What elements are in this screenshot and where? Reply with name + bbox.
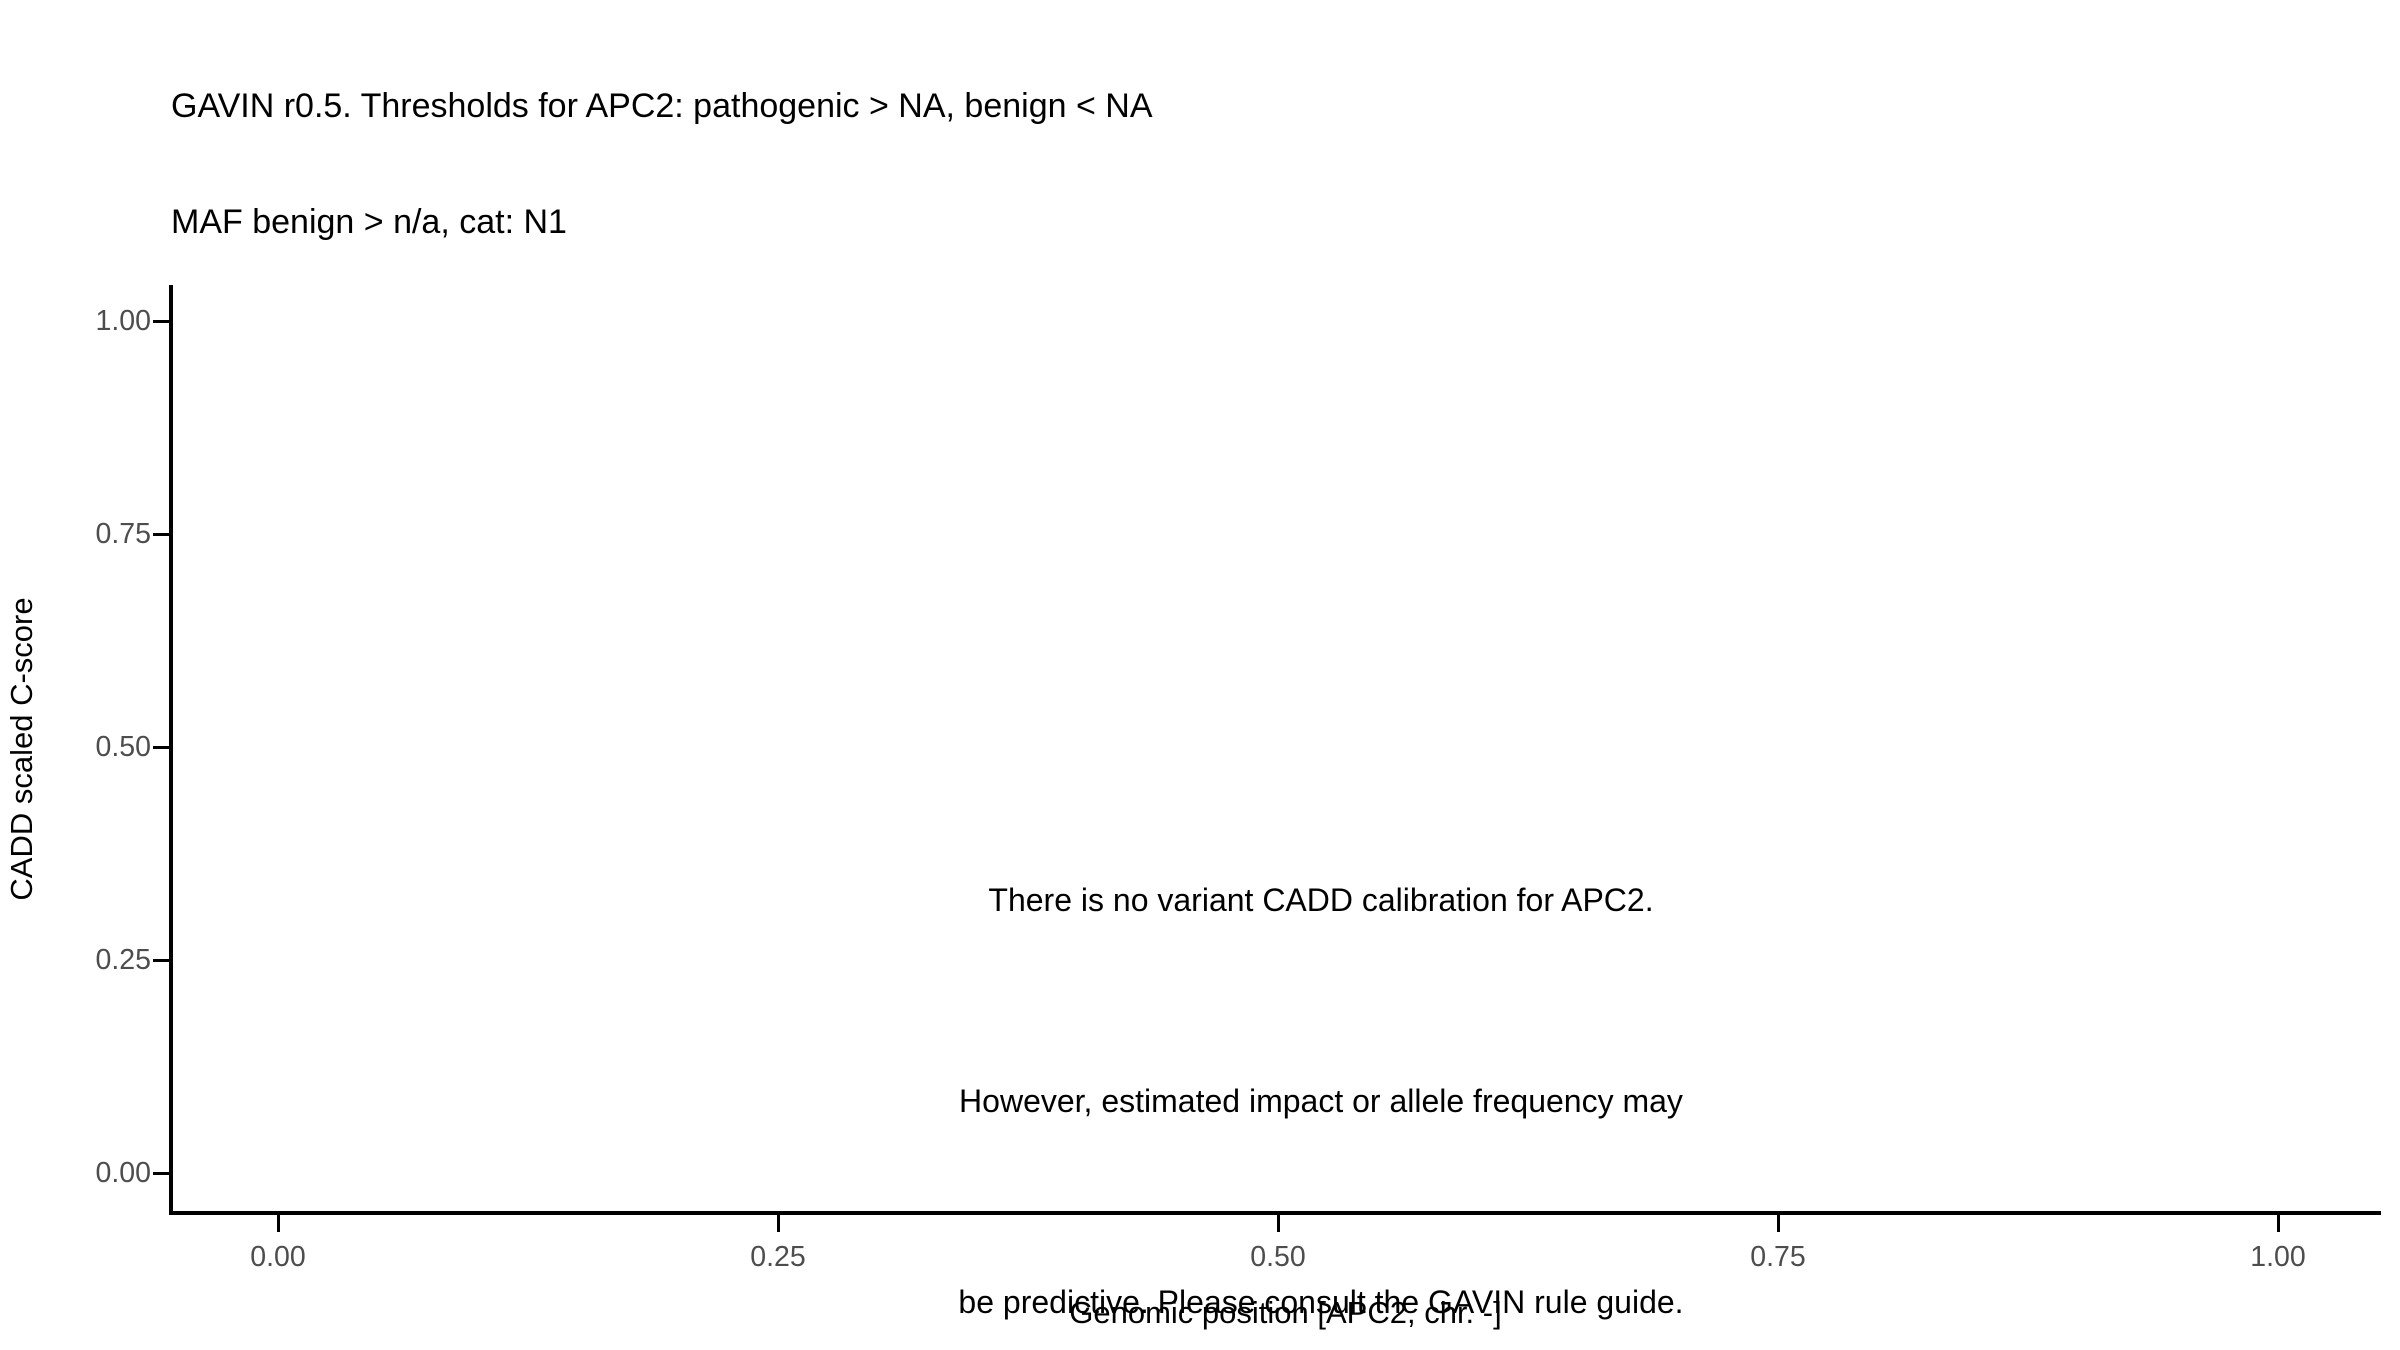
x-axis-tick-mark-0.75 (1777, 1215, 1780, 1232)
y-axis-tick-mark-0.75 (153, 533, 170, 536)
y-axis-tick-label-0.75: 0.75 (96, 520, 151, 549)
x-axis-tick-label-0.00: 0.00 (250, 1243, 305, 1272)
x-axis-tick-mark-0.00 (277, 1215, 280, 1232)
chart-title-line-1: GAVIN r0.5. Thresholds for APC2: pathoge… (171, 87, 2171, 126)
no-calibration-message-line-2: However, estimated impact or allele freq… (958, 1068, 1683, 1135)
y-axis-tick-mark-1.00 (153, 320, 170, 323)
x-axis-tick-mark-0.50 (1277, 1215, 1280, 1232)
chart-title-line-2: MAF benign > n/a, cat: N1 (171, 203, 2171, 242)
y-axis-tick-label-0.00: 0.00 (96, 1159, 151, 1188)
x-axis-tick-label-0.25: 0.25 (750, 1243, 805, 1272)
no-calibration-message-line-1: There is no variant CADD calibration for… (958, 867, 1683, 934)
plot-panel: There is no variant CADD calibration for… (171, 285, 2381, 1213)
y-axis-tick-label-0.50: 0.50 (96, 733, 151, 762)
y-axis-line (169, 285, 173, 1215)
x-axis-tick-label-0.50: 0.50 (1250, 1243, 1305, 1272)
y-axis-tick-label-0.25: 0.25 (96, 946, 151, 975)
y-axis-tick-mark-0.50 (153, 746, 170, 749)
y-axis-title: CADD scaled C-score (0, 285, 44, 1213)
x-axis-tick-label-1.00: 1.00 (2250, 1243, 2305, 1272)
y-axis-tick-mark-0.25 (153, 959, 170, 962)
x-axis-line (169, 1211, 2381, 1215)
y-axis-tick-mark-0.00 (153, 1172, 170, 1175)
no-calibration-message: There is no variant CADD calibration for… (958, 733, 1683, 1350)
chart-canvas: GAVIN r0.5. Thresholds for APC2: pathoge… (0, 0, 2400, 1350)
x-axis-tick-mark-0.25 (777, 1215, 780, 1232)
x-axis-tick-mark-1.00 (2277, 1215, 2280, 1232)
x-axis-tick-label-0.75: 0.75 (1750, 1243, 1805, 1272)
y-axis-tick-label-1.00: 1.00 (96, 307, 151, 336)
x-axis-title: Genomic position [APC2, chr. -] (0, 1297, 2400, 1328)
